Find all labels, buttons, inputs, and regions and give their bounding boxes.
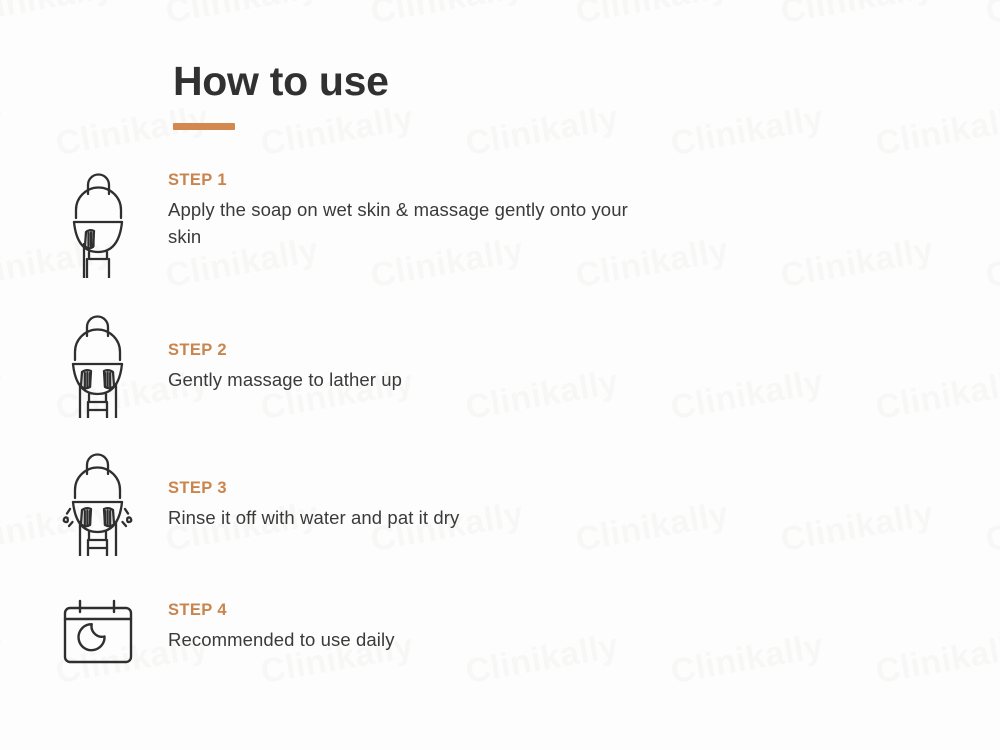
- step-label: STEP 1: [168, 170, 638, 190]
- woman-two-hands-face-icon: [60, 314, 136, 418]
- step-description: Apply the soap on wet skin & massage gen…: [168, 196, 638, 250]
- step-description: Recommended to use daily: [168, 626, 395, 653]
- how-to-use-page: How to use: [0, 0, 1000, 750]
- step-text-container: STEP 2 Gently massage to lather up: [160, 314, 402, 393]
- woman-rinsing-water-splash-icon: [54, 452, 142, 556]
- step-icon-container: [0, 452, 160, 556]
- step-text-container: STEP 3 Rinse it off with water and pat i…: [160, 452, 459, 531]
- step-label: STEP 4: [168, 600, 395, 620]
- step-description: Rinse it off with water and pat it dry: [168, 504, 459, 531]
- page-title: How to use: [173, 57, 389, 105]
- steps-list: STEP 1 Apply the soap on wet skin & mass…: [0, 168, 1000, 688]
- step-text-container: STEP 1 Apply the soap on wet skin & mass…: [160, 168, 638, 250]
- step-item: STEP 3 Rinse it off with water and pat i…: [0, 452, 1000, 556]
- title-underline-rule: [173, 123, 235, 130]
- step-label: STEP 2: [168, 340, 402, 360]
- step-icon-container: [0, 314, 160, 418]
- header: How to use: [173, 57, 389, 130]
- step-icon-container: [0, 168, 160, 278]
- step-item: STEP 4 Recommended to use daily: [0, 588, 1000, 688]
- step-text-container: STEP 4 Recommended to use daily: [160, 588, 395, 653]
- step-item: STEP 2 Gently massage to lather up: [0, 314, 1000, 418]
- step-icon-container: [0, 588, 160, 664]
- woman-one-hand-face-icon: [62, 170, 134, 278]
- calendar-moon-icon: [58, 598, 138, 664]
- step-label: STEP 3: [168, 478, 459, 498]
- step-item: STEP 1 Apply the soap on wet skin & mass…: [0, 168, 1000, 278]
- step-description: Gently massage to lather up: [168, 366, 402, 393]
